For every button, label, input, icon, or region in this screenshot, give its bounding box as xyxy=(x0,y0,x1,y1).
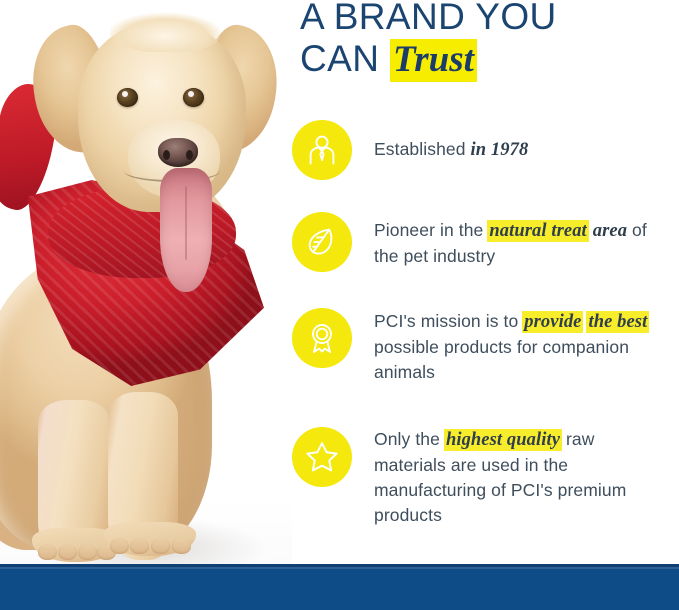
bullet-2-seg-3: area xyxy=(593,221,627,241)
list-item-text: PCI's mission is to provide the best pos… xyxy=(374,308,650,385)
list-item: Established in 1978 xyxy=(292,120,679,180)
list-item: PCI's mission is to provide the best pos… xyxy=(292,308,679,385)
page-title: A BRAND YOU CAN Trust xyxy=(300,0,679,81)
list-item-text: Pioneer in the natural treat area of the… xyxy=(374,212,650,269)
bullet-4-seg-1: highest quality xyxy=(445,430,561,450)
list-item: Pioneer in the natural treat area of the… xyxy=(292,212,679,272)
dog-eye-right xyxy=(183,88,204,107)
dog-brow-tuft xyxy=(110,12,220,52)
dog-photo xyxy=(0,0,292,564)
footer-bar xyxy=(0,564,679,610)
leaf-icon xyxy=(292,212,352,272)
list-item-text: Established in 1978 xyxy=(374,120,650,163)
bullet-4-seg-0: Only the xyxy=(374,429,445,449)
award-ribbon-icon xyxy=(292,308,352,368)
list-item: Only the highest quality raw materials a… xyxy=(292,427,679,528)
dog-tongue xyxy=(160,168,212,292)
headline-line-1: A BRAND YOU xyxy=(300,0,557,37)
bullet-3-seg-3: the best xyxy=(587,312,648,332)
dog-eye-left xyxy=(117,88,138,107)
business-person-icon xyxy=(292,120,352,180)
bullet-2-seg-0: Pioneer in the xyxy=(374,220,488,240)
bullet-3-seg-0: PCI's mission is to xyxy=(374,311,523,331)
star-icon xyxy=(292,427,352,487)
list-item-text: Only the highest quality raw materials a… xyxy=(374,427,650,528)
headline-line-2-prefix: CAN xyxy=(300,38,390,79)
dog-photo-scene xyxy=(0,0,292,564)
bullet-1-seg-1: in 1978 xyxy=(471,140,529,160)
dog-paw-right xyxy=(104,522,196,556)
bullet-2-seg-1: natural treat xyxy=(488,221,587,241)
bullet-3-seg-1: provide xyxy=(523,312,582,332)
infographic-canvas: A BRAND YOU CAN Trust Established in 197… xyxy=(0,0,679,610)
bullet-1-seg-0: Established xyxy=(374,139,471,159)
content-column: A BRAND YOU CAN Trust Established in 197… xyxy=(292,0,679,564)
dog-nose xyxy=(158,138,198,167)
bullet-3-seg-4: possible products for companion animals xyxy=(374,337,629,382)
headline-accent-word: Trust xyxy=(390,39,477,82)
